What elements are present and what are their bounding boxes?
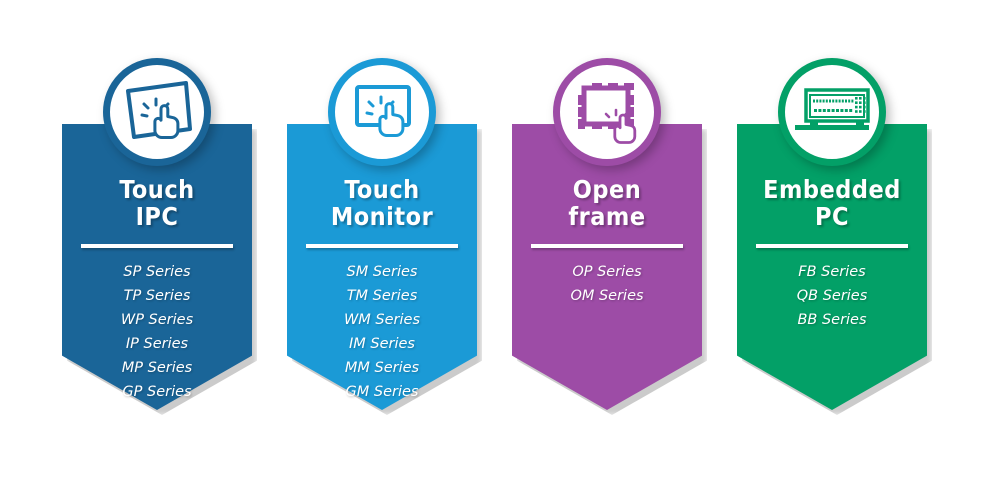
product-banner-embedded-pc[interactable]: EmbeddedPC FB SeriesQB SeriesBB Series <box>737 124 927 410</box>
banner-title-line: PC <box>743 203 921 230</box>
banner-title: TouchMonitor <box>287 176 477 230</box>
series-item[interactable]: FB Series <box>737 260 927 284</box>
series-item[interactable]: IM Series <box>287 332 477 356</box>
banner-title-line: Monitor <box>293 203 471 230</box>
medallion-icon <box>785 65 879 159</box>
series-list: FB SeriesQB SeriesBB Series <box>737 260 927 332</box>
banner-title-line: Touch <box>68 176 246 203</box>
banner-title-line: Embedded <box>743 176 921 203</box>
series-item[interactable]: TP Series <box>62 284 252 308</box>
title-divider <box>756 244 908 248</box>
series-item[interactable]: WP Series <box>62 308 252 332</box>
series-item[interactable]: MM Series <box>287 356 477 380</box>
series-item[interactable]: SM Series <box>287 260 477 284</box>
series-list: SM SeriesTM SeriesWM SeriesIM SeriesMM S… <box>287 260 477 404</box>
title-divider <box>81 244 233 248</box>
medallion-icon <box>335 65 429 159</box>
medallion-circle[interactable] <box>328 58 436 166</box>
banner-title-line: frame <box>518 203 696 230</box>
product-banner-open-frame[interactable]: Openframe OP SeriesOM Series <box>512 124 702 410</box>
title-divider <box>531 244 683 248</box>
series-item[interactable]: GM Series <box>287 380 477 404</box>
medallion-circle[interactable] <box>553 58 661 166</box>
embedded-pc-box-icon <box>793 80 871 144</box>
medallion-circle[interactable] <box>778 58 886 166</box>
series-item[interactable]: SP Series <box>62 260 252 284</box>
series-item[interactable]: QB Series <box>737 284 927 308</box>
series-list: SP SeriesTP SeriesWP SeriesIP SeriesMP S… <box>62 260 252 404</box>
medallion-circle[interactable] <box>103 58 211 166</box>
series-item[interactable]: MP Series <box>62 356 252 380</box>
banner-content: TouchMonitor SM SeriesTM SeriesWM Series… <box>287 176 477 420</box>
product-banner-touch-monitor[interactable]: TouchMonitor SM SeriesTM SeriesWM Series… <box>287 124 477 410</box>
infographic-canvas: TouchIPC SP SeriesTP SeriesWP SeriesIP S… <box>0 0 1000 500</box>
series-item[interactable]: BB Series <box>737 308 927 332</box>
banner-content: EmbeddedPC FB SeriesQB SeriesBB Series <box>737 176 927 348</box>
series-item[interactable]: GP Series <box>62 380 252 404</box>
banner-title-line: Touch <box>293 176 471 203</box>
series-item[interactable]: IP Series <box>62 332 252 356</box>
series-item[interactable]: OM Series <box>512 284 702 308</box>
medallion-icon <box>560 65 654 159</box>
series-item[interactable]: WM Series <box>287 308 477 332</box>
banner-content: TouchIPC SP SeriesTP SeriesWP SeriesIP S… <box>62 176 252 420</box>
banner-title: Openframe <box>512 176 702 230</box>
series-item[interactable]: TM Series <box>287 284 477 308</box>
series-list: OP SeriesOM Series <box>512 260 702 308</box>
series-item[interactable]: OP Series <box>512 260 702 284</box>
medallion-icon <box>110 65 204 159</box>
title-divider <box>306 244 458 248</box>
touch-monitor-icon <box>345 77 419 147</box>
product-banner-touch-ipc[interactable]: TouchIPC SP SeriesTP SeriesWP SeriesIP S… <box>62 124 252 410</box>
open-frame-monitor-icon <box>570 77 644 147</box>
banner-title: EmbeddedPC <box>737 176 927 230</box>
banner-title-line: Open <box>518 176 696 203</box>
banner-content: Openframe OP SeriesOM Series <box>512 176 702 324</box>
banner-title-line: IPC <box>68 203 246 230</box>
banner-title: TouchIPC <box>62 176 252 230</box>
touch-panel-tilted-icon <box>120 77 194 147</box>
